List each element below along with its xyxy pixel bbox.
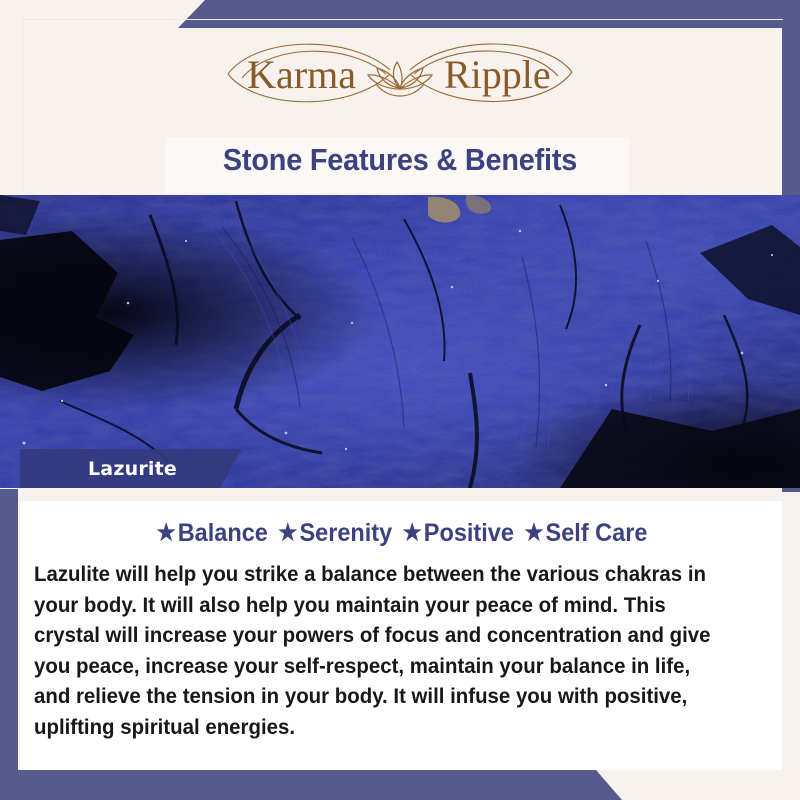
star-icon: ★ [522,519,545,545]
stone-photo [0,195,800,488]
content-panel: ★Balance★Serenity★Positive★Self Care Laz… [20,489,782,770]
stone-name-label: Lazurite [88,458,177,480]
decor-band-top [0,0,800,28]
stone-description: Lazulite will help you strike a balance … [34,559,724,742]
star-icon: ★ [276,519,299,545]
keyword-balance: Balance [178,519,277,547]
keyword-self-care: Self Care [546,519,648,547]
brand-name-left: Karma [247,52,356,97]
page-title: Stone Features & Benefits [28,142,772,178]
stone-name-banner: Lazurite [20,449,242,488]
logo-artwork: Karma Ripple [190,26,610,118]
stone-info-card: Karma Ripple Stone Features & Benefits [0,0,800,800]
brand-logo: Karma Ripple [0,26,800,118]
lotus-icon [368,62,432,96]
decor-band-bottom [0,770,800,800]
brand-name-right: Ripple [444,52,551,97]
keyword-serenity: Serenity [299,519,400,547]
decor-band-left [0,489,18,800]
keyword-positive: Positive [424,519,523,547]
content-top-strip [20,489,782,501]
star-icon: ★ [401,519,424,545]
keyword-list: ★Balance★Serenity★Positive★Self Care [43,519,759,548]
stone-texture-artwork [0,195,800,488]
star-icon: ★ [155,519,178,545]
